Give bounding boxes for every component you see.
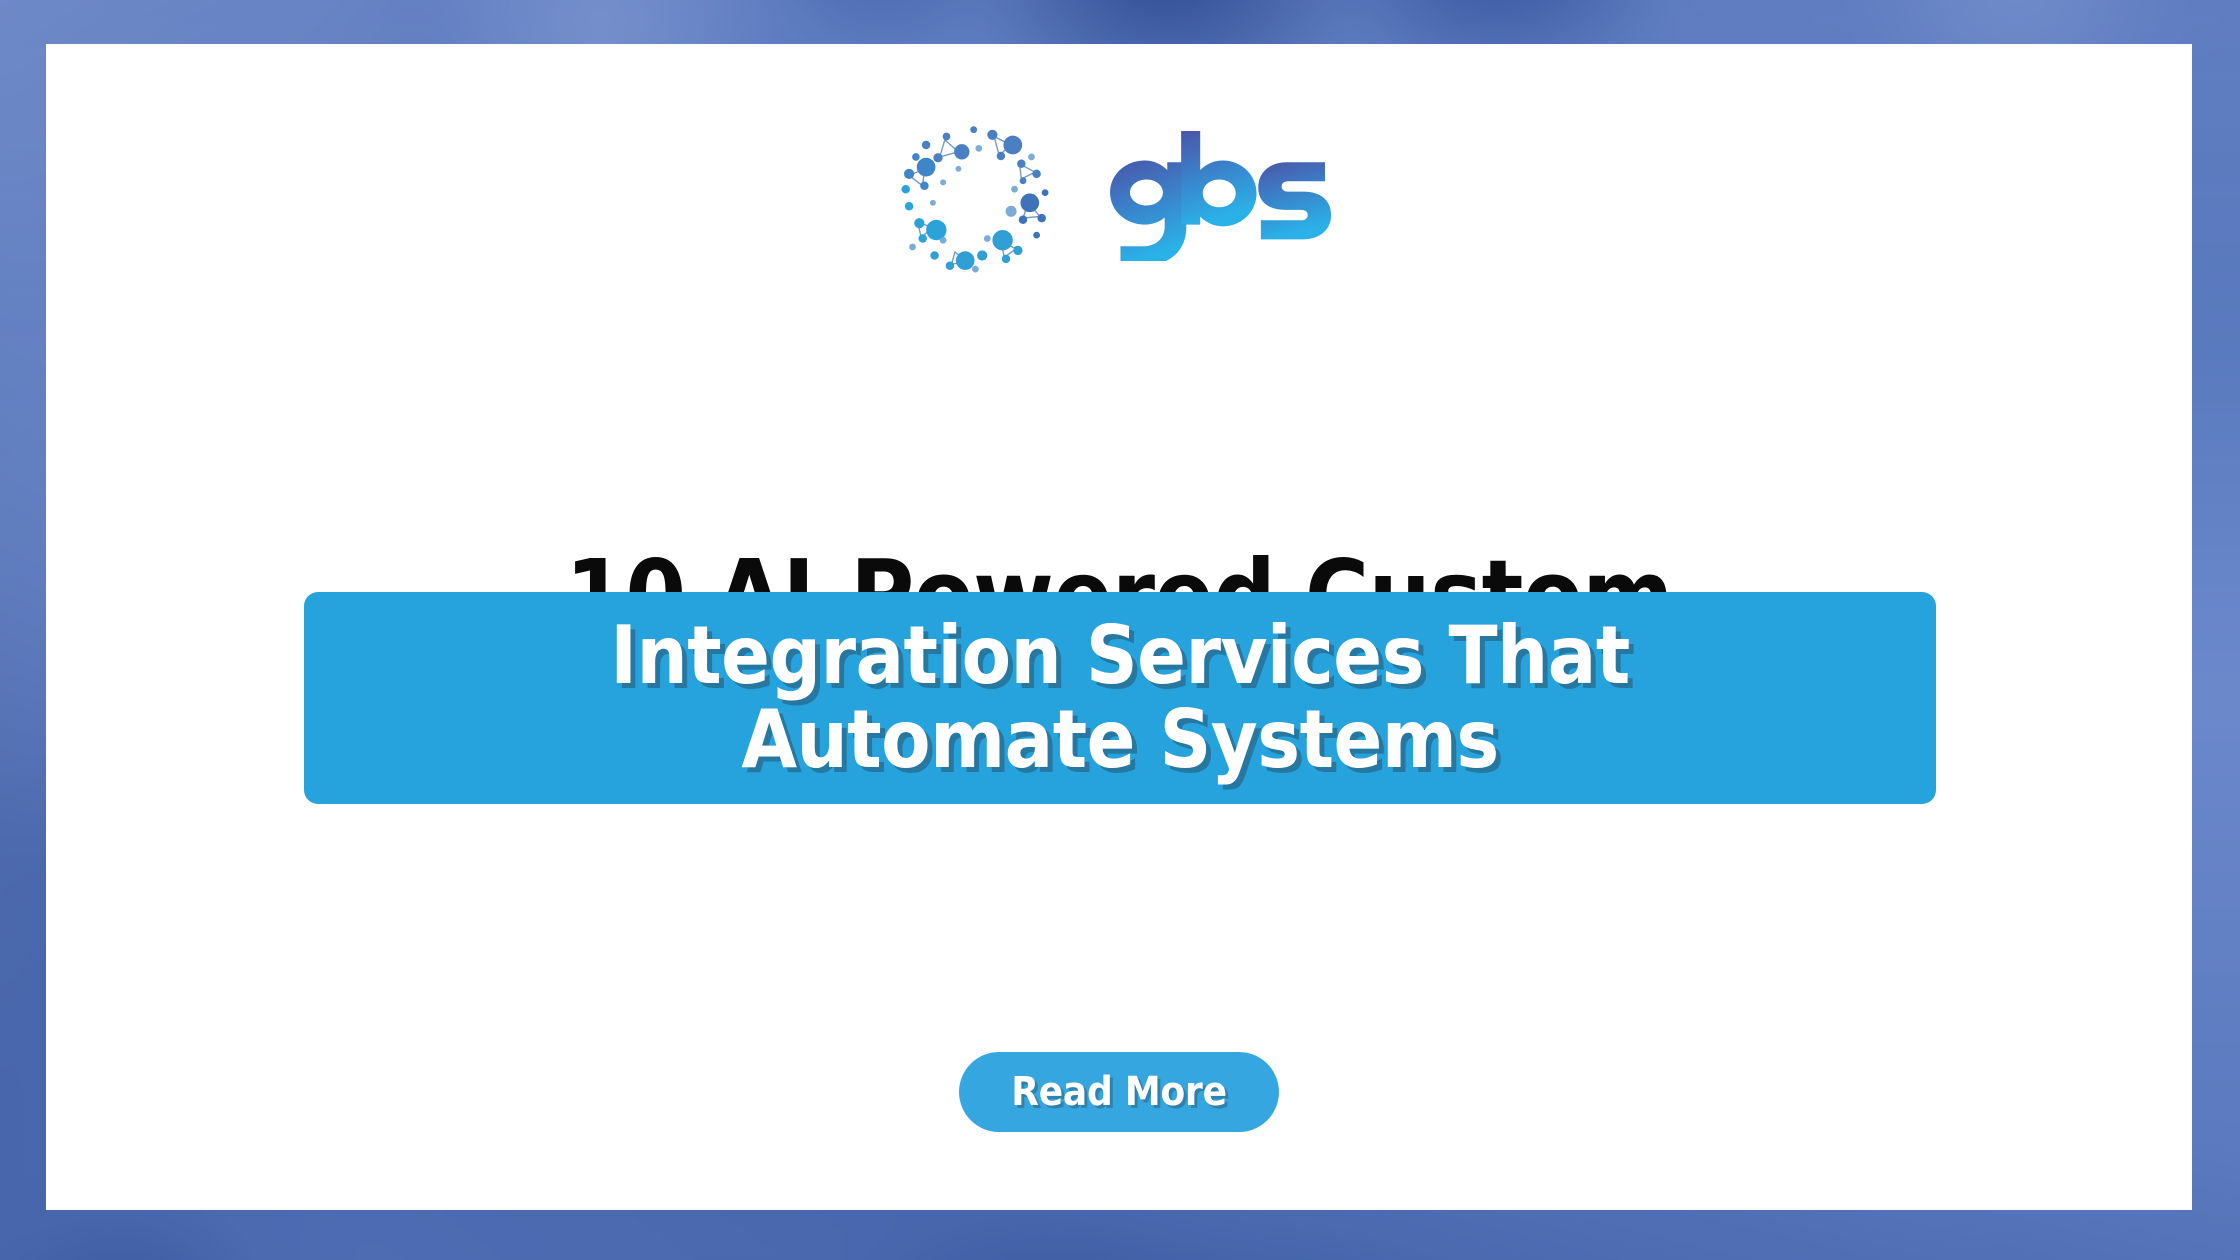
read-more-button[interactable]: Read More: [959, 1052, 1279, 1132]
page-root: 10 AI-Powered Custom Integration Service…: [0, 0, 2240, 1260]
highlight-banner: Integration Services That Automate Syste…: [304, 592, 1936, 804]
banner-subtitle: Integration Services That Automate Syste…: [610, 614, 1630, 782]
gbs-wordmark: [1091, 131, 1351, 261]
gbs-network-ring-logo-icon: [887, 111, 1057, 281]
content-card: 10 AI-Powered Custom Integration Service…: [46, 44, 2192, 1210]
cta-container: Read More: [46, 1052, 2192, 1132]
logo-lockup: [46, 106, 2192, 286]
